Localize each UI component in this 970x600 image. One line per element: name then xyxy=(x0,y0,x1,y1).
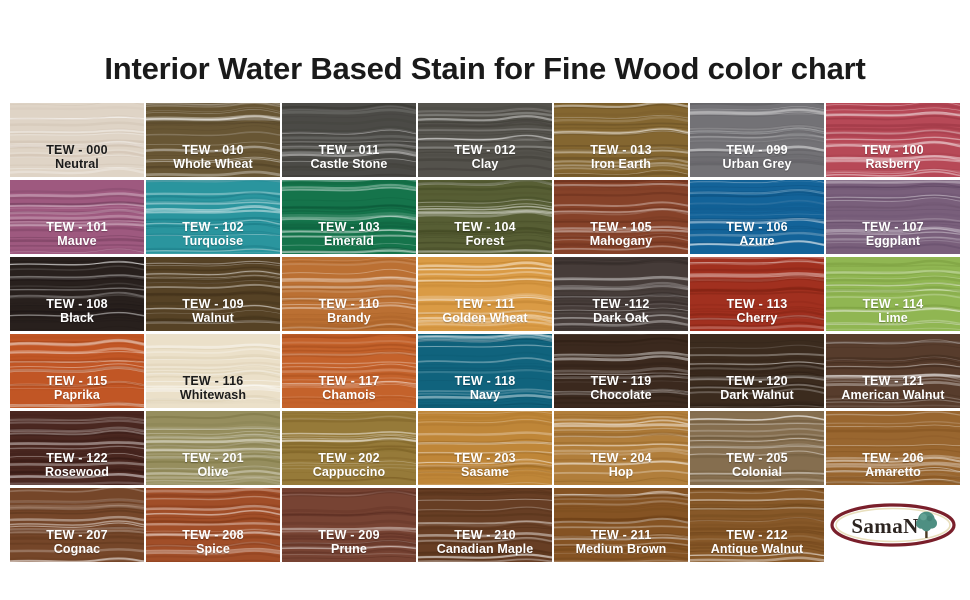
swatch-name: Lime xyxy=(863,311,924,325)
swatch-label: TEW - 117Chamois xyxy=(319,374,380,402)
color-swatch[interactable]: TEW - 109Walnut xyxy=(146,257,280,331)
swatch-name: Mahogany xyxy=(590,234,653,248)
swatch-code: TEW - 115 xyxy=(47,374,108,388)
swatch-code: TEW - 210 xyxy=(437,528,534,542)
swatch-code: TEW - 000 xyxy=(46,143,108,157)
color-swatch[interactable]: TEW - 207Cognac xyxy=(10,488,144,562)
swatch-code: TEW - 117 xyxy=(319,374,380,388)
swatch-name: Forest xyxy=(454,234,516,248)
swatch-name: Spice xyxy=(182,542,244,556)
swatch-label: TEW - 120Dark Walnut xyxy=(720,374,794,402)
swatch-label: TEW - 109Walnut xyxy=(182,297,244,325)
swatch-code: TEW - 103 xyxy=(318,220,380,234)
swatch-name: Turquoise xyxy=(182,234,244,248)
color-swatch[interactable]: TEW - 111Golden Wheat xyxy=(418,257,552,331)
swatch-code: TEW - 119 xyxy=(590,374,651,388)
color-swatch[interactable]: TEW - 106Azure xyxy=(690,180,824,254)
color-swatch[interactable]: TEW - 104Forest xyxy=(418,180,552,254)
swatch-label: TEW - 212Antique Walnut xyxy=(711,528,804,556)
swatch-code: TEW - 202 xyxy=(313,451,386,465)
brand-logo: SamaN xyxy=(826,488,960,562)
swatch-name: Prune xyxy=(318,542,380,556)
swatch-code: TEW - 203 xyxy=(454,451,516,465)
color-swatch[interactable]: TEW - 202Cappuccino xyxy=(282,411,416,485)
swatch-label: TEW - 115Paprika xyxy=(47,374,108,402)
color-swatch[interactable]: TEW - 114Lime xyxy=(826,257,960,331)
swatch-name: Chocolate xyxy=(590,388,651,402)
swatch-label: TEW -112Dark Oak xyxy=(592,297,649,325)
swatch-code: TEW - 099 xyxy=(722,143,791,157)
swatch-label: TEW - 104Forest xyxy=(454,220,516,248)
swatch-code: TEW - 107 xyxy=(862,220,924,234)
swatch-code: TEW - 209 xyxy=(318,528,380,542)
logo-wordmark: SamaN xyxy=(851,514,918,538)
color-swatch[interactable]: TEW - 105Mahogany xyxy=(554,180,688,254)
swatch-name: Olive xyxy=(182,465,244,479)
swatch-code: TEW - 122 xyxy=(45,451,109,465)
color-swatch[interactable]: TEW - 211Medium Brown xyxy=(554,488,688,562)
swatch-name: Chamois xyxy=(319,388,380,402)
color-swatch[interactable]: TEW - 205Colonial xyxy=(690,411,824,485)
swatch-name: Eggplant xyxy=(862,234,924,248)
color-swatch[interactable]: TEW - 010Whole Wheat xyxy=(146,103,280,177)
swatch-name: Colonial xyxy=(726,465,788,479)
swatch-code: TEW - 100 xyxy=(862,143,924,157)
color-swatch[interactable]: TEW - 209Prune xyxy=(282,488,416,562)
swatch-label: TEW - 108Black xyxy=(46,297,108,325)
swatch-label: TEW - 209Prune xyxy=(318,528,380,556)
swatch-label: TEW - 105Mahogany xyxy=(590,220,653,248)
swatch-label: TEW - 099Urban Grey xyxy=(722,143,791,171)
saman-logo-graphic: SamaN xyxy=(829,498,957,552)
swatch-code: TEW -112 xyxy=(592,297,649,311)
swatch-code: TEW - 113 xyxy=(727,297,788,311)
swatch-label: TEW - 204Hop xyxy=(590,451,652,479)
swatch-code: TEW - 012 xyxy=(454,143,516,157)
swatch-name: Emerald xyxy=(318,234,380,248)
swatch-code: TEW - 206 xyxy=(862,451,924,465)
color-swatch[interactable]: TEW - 108Black xyxy=(10,257,144,331)
swatch-label: TEW - 013Iron Earth xyxy=(590,143,652,171)
swatch-label: TEW - 202Cappuccino xyxy=(313,451,386,479)
swatch-code: TEW - 116 xyxy=(180,374,246,388)
swatch-label: TEW - 103Emerald xyxy=(318,220,380,248)
swatch-code: TEW - 120 xyxy=(720,374,794,388)
swatch-label: TEW - 010Whole Wheat xyxy=(173,143,253,171)
swatch-code: TEW - 207 xyxy=(46,528,108,542)
swatch-label: TEW - 207Cognac xyxy=(46,528,108,556)
swatch-code: TEW - 010 xyxy=(173,143,253,157)
swatch-name: Walnut xyxy=(182,311,244,325)
swatch-label: TEW - 110Brandy xyxy=(319,297,380,325)
color-swatch[interactable]: TEW - 115Paprika xyxy=(10,334,144,408)
swatch-code: TEW - 101 xyxy=(46,220,108,234)
color-swatch[interactable]: TEW - 013Iron Earth xyxy=(554,103,688,177)
color-chart-page: Interior Water Based Stain for Fine Wood… xyxy=(0,0,970,600)
color-swatch[interactable]: TEW - 212Antique Walnut xyxy=(690,488,824,562)
swatch-code: TEW - 110 xyxy=(319,297,380,311)
swatch-name: Rasberry xyxy=(862,157,924,171)
swatch-name: Brandy xyxy=(319,311,380,325)
swatch-code: TEW - 212 xyxy=(711,528,804,542)
color-swatch[interactable]: TEW - 203Sasame xyxy=(418,411,552,485)
swatch-name: Medium Brown xyxy=(576,542,667,556)
swatch-label: TEW - 012Clay xyxy=(454,143,516,171)
swatch-code: TEW - 208 xyxy=(182,528,244,542)
swatch-code: TEW - 109 xyxy=(182,297,244,311)
color-swatch[interactable]: TEW - 208Spice xyxy=(146,488,280,562)
swatch-label: TEW - 011Castle Stone xyxy=(311,143,388,171)
swatch-label: TEW - 111Golden Wheat xyxy=(442,297,527,325)
color-swatch[interactable]: TEW -112Dark Oak xyxy=(554,257,688,331)
swatch-name: Rosewood xyxy=(45,465,109,479)
color-swatch[interactable]: TEW - 118Navy xyxy=(418,334,552,408)
color-swatch[interactable]: TEW - 099Urban Grey xyxy=(690,103,824,177)
swatch-code: TEW - 114 xyxy=(863,297,924,311)
color-swatch[interactable]: TEW - 100Rasberry xyxy=(826,103,960,177)
swatch-name: Clay xyxy=(454,157,516,171)
swatch-code: TEW - 205 xyxy=(726,451,788,465)
color-swatch[interactable]: TEW - 204Hop xyxy=(554,411,688,485)
swatch-label: TEW - 205Colonial xyxy=(726,451,788,479)
swatch-code: TEW - 104 xyxy=(454,220,516,234)
swatch-name: Navy xyxy=(455,388,516,402)
swatch-name: Dark Oak xyxy=(592,311,649,325)
swatch-code: TEW - 211 xyxy=(576,528,667,542)
color-swatch[interactable]: TEW - 012Clay xyxy=(418,103,552,177)
swatch-name: Cognac xyxy=(46,542,108,556)
swatch-label: TEW - 201Olive xyxy=(182,451,244,479)
color-swatch[interactable]: TEW - 122Rosewood xyxy=(10,411,144,485)
swatch-name: Iron Earth xyxy=(590,157,652,171)
swatch-code: TEW - 105 xyxy=(590,220,653,234)
color-swatch[interactable]: TEW - 206Amaretto xyxy=(826,411,960,485)
swatch-name: Whole Wheat xyxy=(173,157,253,171)
swatch-name: Black xyxy=(46,311,108,325)
swatch-label: TEW - 210Canadian Maple xyxy=(437,528,534,556)
swatch-code: TEW - 111 xyxy=(442,297,527,311)
swatch-name: Sasame xyxy=(454,465,516,479)
swatch-label: TEW - 113Cherry xyxy=(727,297,788,325)
swatch-label: TEW - 211Medium Brown xyxy=(576,528,667,556)
swatch-name: Hop xyxy=(590,465,652,479)
color-swatch[interactable]: TEW - 117Chamois xyxy=(282,334,416,408)
swatch-code: TEW - 102 xyxy=(182,220,244,234)
color-swatch[interactable]: TEW - 121American Walnut xyxy=(826,334,960,408)
swatch-name: Antique Walnut xyxy=(711,542,804,556)
swatch-label: TEW - 100Rasberry xyxy=(862,143,924,171)
swatch-code: TEW - 013 xyxy=(590,143,652,157)
swatch-label: TEW - 118Navy xyxy=(455,374,516,402)
swatch-name: Whitewash xyxy=(180,388,246,402)
color-swatch[interactable]: TEW - 116Whitewash xyxy=(146,334,280,408)
swatch-name: Urban Grey xyxy=(722,157,791,171)
swatch-name: Castle Stone xyxy=(311,157,388,171)
swatch-label: TEW - 102Turquoise xyxy=(182,220,244,248)
swatch-name: Neutral xyxy=(46,157,108,171)
swatch-label: TEW - 121American Walnut xyxy=(841,374,944,402)
swatch-label: TEW - 000Neutral xyxy=(46,143,108,171)
swatch-name: Golden Wheat xyxy=(442,311,527,325)
color-swatch[interactable]: TEW - 102Turquoise xyxy=(146,180,280,254)
swatch-code: TEW - 118 xyxy=(455,374,516,388)
swatch-label: TEW - 106Azure xyxy=(726,220,788,248)
color-swatch[interactable]: TEW - 011Castle Stone xyxy=(282,103,416,177)
color-swatch[interactable]: TEW - 120Dark Walnut xyxy=(690,334,824,408)
swatch-name: Cappuccino xyxy=(313,465,386,479)
swatch-code: TEW - 121 xyxy=(841,374,944,388)
swatch-label: TEW - 208Spice xyxy=(182,528,244,556)
swatch-label: TEW - 116Whitewash xyxy=(180,374,246,402)
color-swatch[interactable]: TEW - 000Neutral xyxy=(10,103,144,177)
color-swatch[interactable]: TEW - 210Canadian Maple xyxy=(418,488,552,562)
swatch-code: TEW - 201 xyxy=(182,451,244,465)
swatch-grid: TEW - 000NeutralTEW - 010Whole WheatTEW … xyxy=(10,103,962,562)
color-swatch[interactable]: TEW - 113Cherry xyxy=(690,257,824,331)
swatch-code: TEW - 011 xyxy=(311,143,388,157)
color-swatch[interactable]: TEW - 119Chocolate xyxy=(554,334,688,408)
color-swatch[interactable]: TEW - 101Mauve xyxy=(10,180,144,254)
swatch-label: TEW - 206Amaretto xyxy=(862,451,924,479)
swatch-label: TEW - 114Lime xyxy=(863,297,924,325)
swatch-label: TEW - 107Eggplant xyxy=(862,220,924,248)
swatch-code: TEW - 108 xyxy=(46,297,108,311)
swatch-name: American Walnut xyxy=(841,388,944,402)
page-title: Interior Water Based Stain for Fine Wood… xyxy=(0,51,970,87)
swatch-label: TEW - 119Chocolate xyxy=(590,374,651,402)
swatch-name: Amaretto xyxy=(862,465,924,479)
swatch-label: TEW - 101Mauve xyxy=(46,220,108,248)
color-swatch[interactable]: TEW - 103Emerald xyxy=(282,180,416,254)
swatch-name: Cherry xyxy=(727,311,788,325)
color-swatch[interactable]: TEW - 107Eggplant xyxy=(826,180,960,254)
swatch-name: Mauve xyxy=(46,234,108,248)
swatch-name: Paprika xyxy=(47,388,108,402)
swatch-name: Canadian Maple xyxy=(437,542,534,556)
swatch-name: Azure xyxy=(726,234,788,248)
swatch-code: TEW - 106 xyxy=(726,220,788,234)
swatch-label: TEW - 203Sasame xyxy=(454,451,516,479)
color-swatch[interactable]: TEW - 201Olive xyxy=(146,411,280,485)
swatch-code: TEW - 204 xyxy=(590,451,652,465)
swatch-label: TEW - 122Rosewood xyxy=(45,451,109,479)
color-swatch[interactable]: TEW - 110Brandy xyxy=(282,257,416,331)
swatch-name: Dark Walnut xyxy=(720,388,794,402)
